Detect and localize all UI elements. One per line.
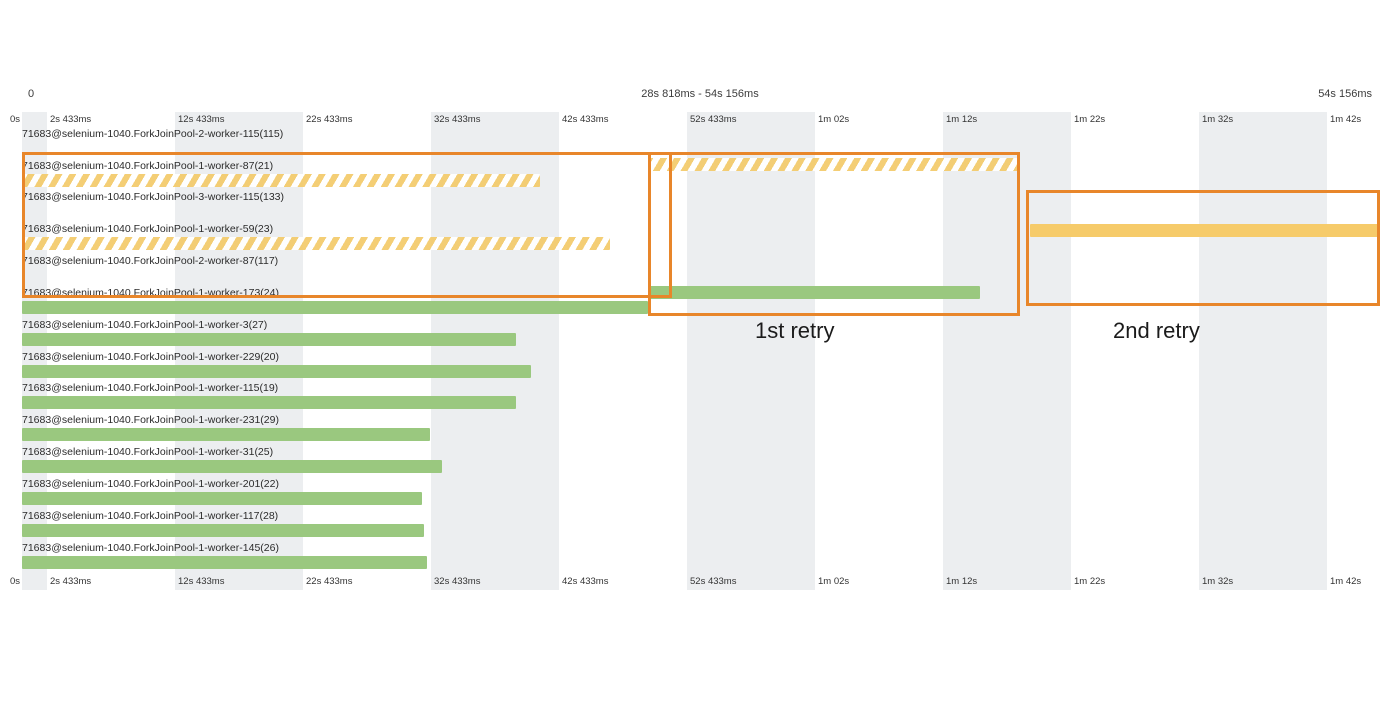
thread-row-label: 71683@selenium-1040.ForkJoinPool-1-worke… [22, 319, 267, 331]
axis-tick-7: 1m 12s [946, 574, 977, 590]
axis-tick-9: 1m 32s [1202, 112, 1233, 128]
axis-tick-3: 32s 433ms [434, 574, 480, 590]
axis-tick-0: 2s 433ms [50, 574, 91, 590]
gantt-chart: 0s2s 433ms12s 433ms22s 433ms32s 433ms42s… [22, 112, 1378, 590]
thread-duration-bar[interactable] [22, 301, 648, 314]
thread-duration-bar[interactable] [22, 524, 424, 537]
axis-tick-1: 12s 433ms [178, 112, 224, 128]
axis-tick-1: 12s 433ms [178, 574, 224, 590]
time-axis-top: 0s2s 433ms12s 433ms22s 433ms32s 433ms42s… [22, 112, 1378, 128]
axis-tick-5: 52s 433ms [690, 112, 736, 128]
thread-duration-bar[interactable] [22, 460, 442, 473]
thread-duration-bar[interactable] [22, 365, 531, 378]
thread-row[interactable]: 71683@selenium-1040.ForkJoinPool-1-worke… [22, 510, 1378, 540]
thread-row-label: 71683@selenium-1040.ForkJoinPool-1-worke… [22, 382, 278, 394]
retry-1-label: 1st retry [755, 318, 834, 344]
axis-tick-2: 22s 433ms [306, 112, 352, 128]
axis-tick-3: 32s 433ms [434, 112, 480, 128]
thread-row-label: 71683@selenium-1040.ForkJoinPool-1-worke… [22, 351, 279, 363]
thread-row[interactable]: 71683@selenium-1040.ForkJoinPool-1-worke… [22, 351, 1378, 381]
axis-tick-zero: 0s [2, 574, 20, 590]
summary-range-value: 28s 818ms - 54s 156ms [0, 88, 1400, 100]
axis-tick-10: 1m 42s [1330, 574, 1361, 590]
axis-tick-9: 1m 32s [1202, 574, 1233, 590]
thread-row[interactable]: 71683@selenium-1040.ForkJoinPool-1-worke… [22, 478, 1378, 508]
axis-tick-5: 52s 433ms [690, 574, 736, 590]
axis-tick-4: 42s 433ms [562, 574, 608, 590]
timeline-root: 0 28s 818ms - 54s 156ms 54s 156ms 0s2s 4… [0, 0, 1400, 713]
thread-row[interactable]: 71683@selenium-1040.ForkJoinPool-1-worke… [22, 542, 1378, 572]
axis-tick-4: 42s 433ms [562, 112, 608, 128]
axis-tick-8: 1m 22s [1074, 574, 1105, 590]
thread-row[interactable]: 71683@selenium-1040.ForkJoinPool-1-worke… [22, 414, 1378, 444]
thread-duration-bar[interactable] [22, 333, 516, 346]
thread-row-label: 71683@selenium-1040.ForkJoinPool-1-worke… [22, 542, 279, 554]
main-group-box [22, 152, 672, 298]
thread-row-label: 71683@selenium-1040.ForkJoinPool-2-worke… [22, 128, 283, 140]
axis-tick-zero: 0s [2, 112, 20, 128]
thread-duration-bar[interactable] [22, 396, 516, 409]
thread-row-label: 71683@selenium-1040.ForkJoinPool-1-worke… [22, 510, 278, 522]
thread-duration-bar[interactable] [22, 428, 430, 441]
axis-tick-6: 1m 02s [818, 574, 849, 590]
axis-tick-8: 1m 22s [1074, 112, 1105, 128]
thread-duration-bar[interactable] [22, 556, 427, 569]
thread-row-label: 71683@selenium-1040.ForkJoinPool-1-worke… [22, 446, 273, 458]
axis-tick-2: 22s 433ms [306, 574, 352, 590]
axis-tick-7: 1m 12s [946, 112, 977, 128]
retry2-box [1026, 190, 1380, 306]
thread-row-label: 71683@selenium-1040.ForkJoinPool-1-worke… [22, 414, 279, 426]
axis-tick-10: 1m 42s [1330, 112, 1361, 128]
thread-duration-bar[interactable] [22, 492, 422, 505]
thread-row-label: 71683@selenium-1040.ForkJoinPool-1-worke… [22, 478, 279, 490]
time-axis-bottom: 0s2s 433ms12s 433ms22s 433ms32s 433ms42s… [22, 574, 1378, 590]
axis-tick-6: 1m 02s [818, 112, 849, 128]
summary-right-value: 54s 156ms [1318, 88, 1372, 100]
summary-header: 0 28s 818ms - 54s 156ms 54s 156ms [0, 88, 1400, 108]
axis-tick-0: 2s 433ms [50, 112, 91, 128]
retry-2-label: 2nd retry [1113, 318, 1200, 344]
retry1-box [648, 152, 1020, 316]
thread-row[interactable]: 71683@selenium-1040.ForkJoinPool-1-worke… [22, 446, 1378, 476]
thread-row[interactable]: 71683@selenium-1040.ForkJoinPool-1-worke… [22, 382, 1378, 412]
